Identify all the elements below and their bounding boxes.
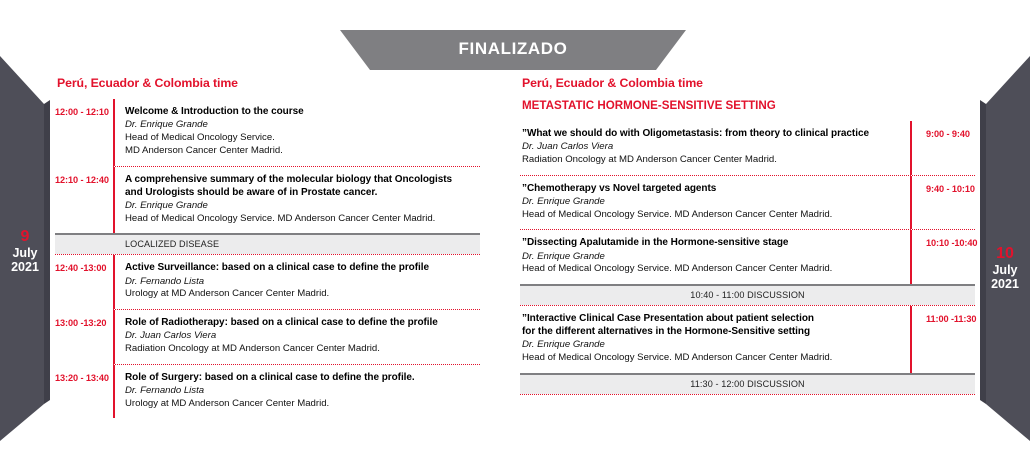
session-accent-bar: [113, 167, 115, 234]
session-body: A comprehensive summary of the molecular…: [125, 167, 480, 234]
session-speaker: Dr. Fernando Lista: [125, 385, 480, 398]
discussion-band: 11:30 - 12:00 DISCUSSION: [520, 373, 975, 394]
session-speaker: Dr. Enrique Grande: [125, 119, 480, 132]
session-title: Role of Surgery: based on a clinical cas…: [125, 371, 480, 384]
session-accent-bar: [113, 255, 115, 309]
date-tab-left-shape: [0, 0, 50, 450]
session-time: 13:00 -13:20: [55, 310, 113, 328]
date-tab-day2[interactable]: 10 July 2021: [980, 0, 1030, 450]
session-row[interactable]: 12:00 - 12:10 Welcome & Introduction to …: [55, 99, 480, 166]
session-accent-bar: [113, 365, 115, 419]
session-speaker: Dr. Enrique Grande: [522, 339, 900, 352]
session-speaker: Dr. Enrique Grande: [522, 196, 900, 209]
session-body: Role of Surgery: based on a clinical cas…: [125, 365, 480, 419]
session-title: Role of Radiotherapy: based on a clinica…: [125, 316, 480, 329]
session-affiliation: Urology at MD Anderson Cancer Center Mad…: [125, 288, 480, 301]
day1-timezone-header: Perú, Ecuador & Colombia time: [55, 76, 480, 90]
session-title: Welcome & Introduction to the course: [125, 105, 480, 118]
session-row[interactable]: ”What we should do with Oligometastasis:…: [520, 121, 975, 175]
session-time: 9:40 - 10:10: [912, 176, 975, 194]
session-body: Welcome & Introduction to the course Dr.…: [125, 99, 480, 166]
session-title: for the different alternatives in the Ho…: [522, 325, 900, 338]
session-speaker: Dr. Enrique Grande: [522, 251, 900, 264]
day2-column: Perú, Ecuador & Colombia time METASTATIC…: [520, 76, 975, 395]
discussion-band: 10:40 - 11:00 DISCUSSION: [520, 284, 975, 305]
day2-timezone-header: Perú, Ecuador & Colombia time: [520, 76, 975, 90]
session-title: A comprehensive summary of the molecular…: [125, 173, 480, 186]
session-title: ”Dissecting Apalutamide in the Hormone-s…: [522, 236, 900, 249]
session-row[interactable]: ”Chemotherapy vs Novel targeted agents D…: [520, 176, 975, 230]
session-row[interactable]: ”Interactive Clinical Case Presentation …: [520, 306, 975, 373]
session-row[interactable]: 13:20 - 13:40 Role of Surgery: based on …: [55, 365, 480, 419]
session-row[interactable]: 12:10 - 12:40 A comprehensive summary of…: [55, 167, 480, 234]
session-speaker: Dr. Juan Carlos Viera: [125, 330, 480, 343]
session-row[interactable]: ”Dissecting Apalutamide in the Hormone-s…: [520, 230, 975, 284]
session-speaker: Dr. Juan Carlos Viera: [522, 141, 900, 154]
session-title: ”Chemotherapy vs Novel targeted agents: [522, 182, 900, 195]
session-time: 12:40 -13:00: [55, 255, 113, 273]
session-time: 9:00 - 9:40: [912, 121, 975, 139]
session-body: ”Chemotherapy vs Novel targeted agents D…: [520, 176, 910, 230]
session-affiliation: Head of Medical Oncology Service. MD And…: [125, 213, 480, 226]
session-time: 10:10 -10:40: [912, 230, 977, 248]
row-divider: [520, 394, 975, 395]
session-title: and Urologists should be aware of in Pro…: [125, 186, 480, 199]
session-time: 12:10 - 12:40: [55, 167, 113, 185]
session-speaker: Dr. Enrique Grande: [125, 200, 480, 213]
session-affiliation: MD Anderson Cancer Center Madrid.: [125, 145, 480, 158]
session-time: 11:00 -11:30: [912, 306, 976, 324]
session-affiliation: Head of Medical Oncology Service. MD And…: [522, 263, 900, 276]
session-row[interactable]: 13:00 -13:20 Role of Radiotherapy: based…: [55, 310, 480, 364]
session-affiliation: Head of Medical Oncology Service. MD And…: [522, 352, 900, 365]
agenda-page: 9 July 2021 10 July 2021 FINALIZADO Perú…: [0, 0, 1030, 450]
session-time: 12:00 - 12:10: [55, 99, 113, 117]
session-body: ”What we should do with Oligometastasis:…: [520, 121, 910, 175]
session-body: ”Interactive Clinical Case Presentation …: [520, 306, 910, 373]
session-body: Active Surveillance: based on a clinical…: [125, 255, 480, 309]
session-affiliation: Head of Medical Oncology Service.: [125, 132, 480, 145]
session-title: Active Surveillance: based on a clinical…: [125, 261, 480, 274]
status-banner: FINALIZADO: [340, 30, 686, 70]
day2-section-header: METASTATIC HORMONE-SENSITIVE SETTING: [520, 99, 975, 112]
status-badge: FINALIZADO: [340, 39, 686, 59]
session-title: ”What we should do with Oligometastasis:…: [522, 127, 900, 140]
date-tab-right-shape: [980, 0, 1030, 450]
session-row[interactable]: 12:40 -13:00 Active Surveillance: based …: [55, 255, 480, 309]
date-tab-day1[interactable]: 9 July 2021: [0, 0, 50, 450]
session-affiliation: Radiation Oncology at MD Anderson Cancer…: [522, 154, 900, 167]
session-affiliation: Radiation Oncology at MD Anderson Cancer…: [125, 343, 480, 356]
day1-column: Perú, Ecuador & Colombia time 12:00 - 12…: [55, 76, 480, 418]
session-body: Role of Radiotherapy: based on a clinica…: [125, 310, 480, 364]
session-affiliation: Urology at MD Anderson Cancer Center Mad…: [125, 398, 480, 411]
session-time: 13:20 - 13:40: [55, 365, 113, 383]
session-accent-bar: [113, 310, 115, 364]
session-affiliation: Head of Medical Oncology Service. MD And…: [522, 209, 900, 222]
session-title: ”Interactive Clinical Case Presentation …: [522, 312, 900, 325]
session-speaker: Dr. Fernando Lista: [125, 276, 480, 289]
section-band-localized-disease: LOCALIZED DISEASE: [55, 233, 480, 254]
session-body: ”Dissecting Apalutamide in the Hormone-s…: [520, 230, 910, 284]
session-accent-bar: [113, 99, 115, 166]
